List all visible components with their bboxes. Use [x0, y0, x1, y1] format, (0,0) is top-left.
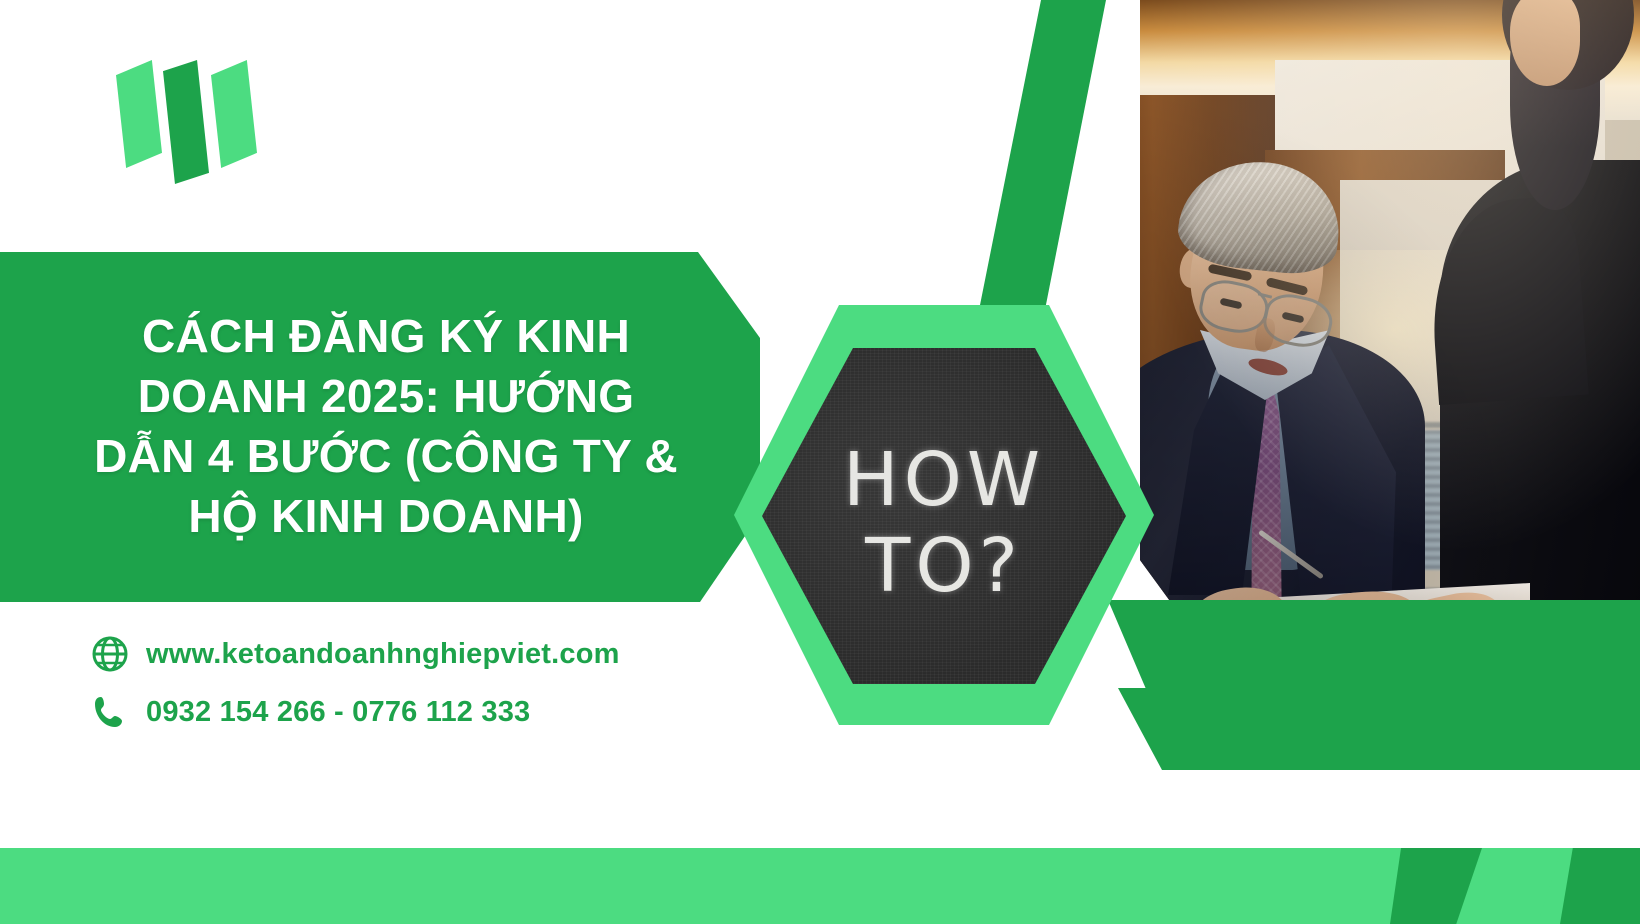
logo-mark[interactable]: [110, 60, 260, 180]
photo-scene: [1040, 0, 1640, 690]
badge-label: HOW TO?: [762, 437, 1126, 609]
page-title: CÁCH ĐĂNG KÝ KINH DOANH 2025: HƯỚNG DẪN …: [86, 307, 686, 546]
contact-row-phone[interactable]: 0932 154 266 - 0776 112 333: [88, 690, 620, 734]
contact-block: www.ketoandoanhnghiepviet.com 0932 154 2…: [88, 632, 620, 748]
logo-bar-right: [211, 60, 257, 168]
headline-banner: CÁCH ĐĂNG KÝ KINH DOANH 2025: HƯỚNG DẪN …: [0, 252, 760, 602]
website-text: www.ketoandoanhnghiepviet.com: [146, 638, 620, 671]
phone-icon: [88, 690, 132, 734]
logo-bar-left: [116, 60, 162, 168]
contact-row-website[interactable]: www.ketoandoanhnghiepviet.com: [88, 632, 620, 676]
banner-canvas: CÁCH ĐĂNG KÝ KINH DOANH 2025: HƯỚNG DẪN …: [0, 0, 1640, 924]
hero-photo: [1040, 0, 1640, 690]
globe-icon: [88, 632, 132, 676]
phone-text: 0932 154 266 - 0776 112 333: [146, 696, 530, 729]
photo-underband-accent-2: [1100, 688, 1640, 814]
bottom-stripe-4: [1560, 848, 1640, 924]
logo-bar-center: [163, 60, 209, 184]
